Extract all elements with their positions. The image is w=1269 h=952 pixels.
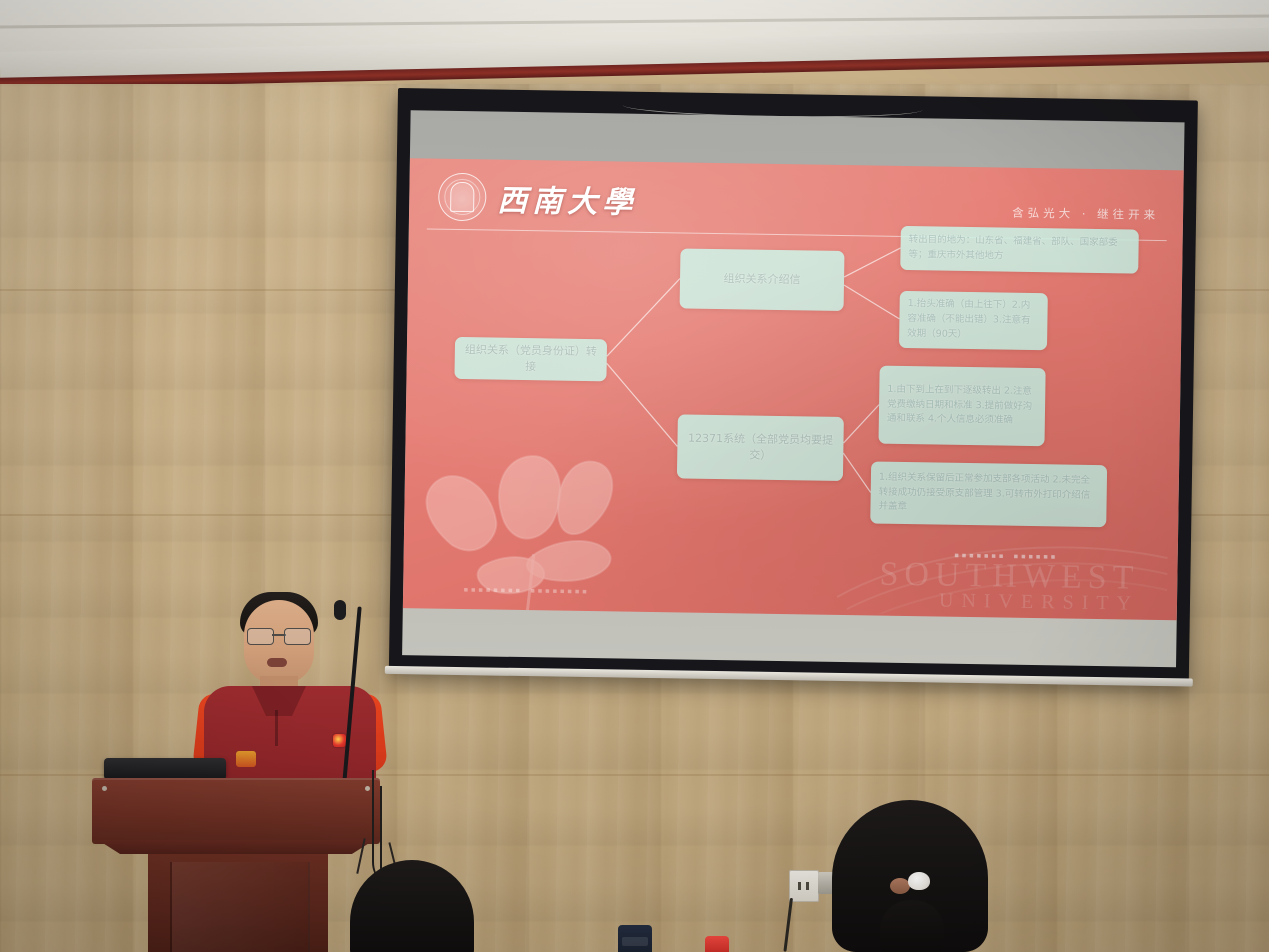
screen-surface: SOUTHWEST UNIVERSITY ▪▪▪▪▪▪▪ ▪▪▪▪▪▪ ▪▪▪▪… [402,110,1184,667]
podium-top [92,778,380,844]
wall-outlet [789,870,819,902]
podium-front-panel [170,862,310,952]
watermark-dots-left: ▪▪▪▪▪▪▪▪ ▪▪▪▪▪▪▪▪ [463,585,589,597]
university-seal-icon [438,173,487,222]
university-name: 西南大學 [497,176,638,222]
diagram-detail-notes: 1.组织关系保留后正常参加支部各项活动 2.未完全转接成功仍接受原支部管理 3.… [870,461,1107,527]
university-motto: 含弘光大 · 继往开来 [1012,205,1159,223]
diagram-node-12371-system: 12371系统（全部党员均要提交） [677,414,844,481]
diagram-detail-letter-rules: 1.抬头准确（由上往下）2.内容准确（不能出错）3.注意有效期（90天） [899,291,1048,350]
presenter-mouth [267,658,287,667]
dark-blue-tumbler [618,925,652,952]
podium-lip [98,840,374,854]
presentation-slide: SOUTHWEST UNIVERSITY ▪▪▪▪▪▪▪ ▪▪▪▪▪▪ ▪▪▪▪… [403,158,1184,620]
lecture-hall-scene: SOUTHWEST UNIVERSITY ▪▪▪▪▪▪▪ ▪▪▪▪▪▪ ▪▪▪▪… [0,0,1269,952]
diagram-detail-destinations: 转出目的地为：山东省、福建省、部队、国家部委等；重庆市外其他地方 [900,226,1139,274]
microphone-head-icon [334,600,346,620]
presenter-shirt-placket [275,710,278,746]
shirt-logo-patch [236,751,256,767]
red-bottle-cap [705,936,729,952]
ceiling-seam [0,14,1269,28]
podium-screw [102,786,107,791]
glasses-right-lens [284,628,311,645]
diagram-node-introduction-letter: 组织关系介绍信 [680,248,845,311]
laptop[interactable] [104,758,226,780]
seal-inner-ring [444,179,481,216]
glasses-icon [247,628,311,643]
watermark-arc-lines [837,527,1168,618]
diagram-node-root: 组织关系（党员身份证）转接 [454,337,607,381]
university-watermark: SOUTHWEST UNIVERSITY [879,558,1140,613]
diagram-detail-transfer-steps: 1.由下到上在到下逐级转出 2.注意党费缴纳日期和标准 3.提前做好沟通和联系 … [878,366,1045,447]
watermark-line-2: UNIVERSITY [879,591,1139,614]
audience-ponytail [880,900,944,952]
projection-screen: SOUTHWEST UNIVERSITY ▪▪▪▪▪▪▪ ▪▪▪▪▪▪ ▪▪▪▪… [389,88,1198,685]
watermark-dots-right: ▪▪▪▪▪▪▪ ▪▪▪▪▪▪ [954,551,1058,563]
glasses-left-lens [247,628,274,645]
podium [92,778,380,952]
party-emblem-pin-icon [333,734,346,747]
podium-screw [365,786,370,791]
hair-clip-icon [908,872,930,890]
podium-base [148,854,328,952]
hair-tie [890,878,910,894]
